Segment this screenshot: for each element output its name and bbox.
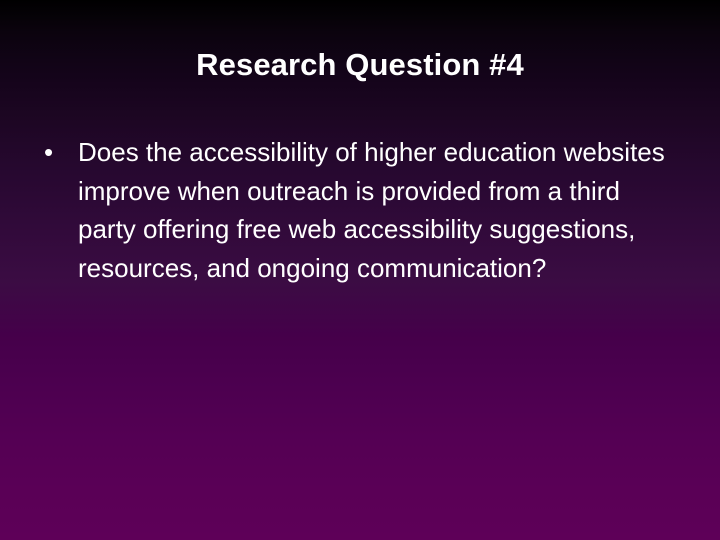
list-item: • Does the accessibility of higher educa… <box>40 133 680 287</box>
slide-title: Research Question #4 <box>40 46 680 84</box>
page-title: Research Question #4 <box>40 46 680 84</box>
bullet-point-icon: • <box>44 133 66 172</box>
list-item-label: Does the accessibility of higher educati… <box>78 133 680 287</box>
slide-body: • Does the accessibility of higher educa… <box>40 133 680 287</box>
slide-canvas: Research Question #4 • Does the accessib… <box>0 0 720 540</box>
